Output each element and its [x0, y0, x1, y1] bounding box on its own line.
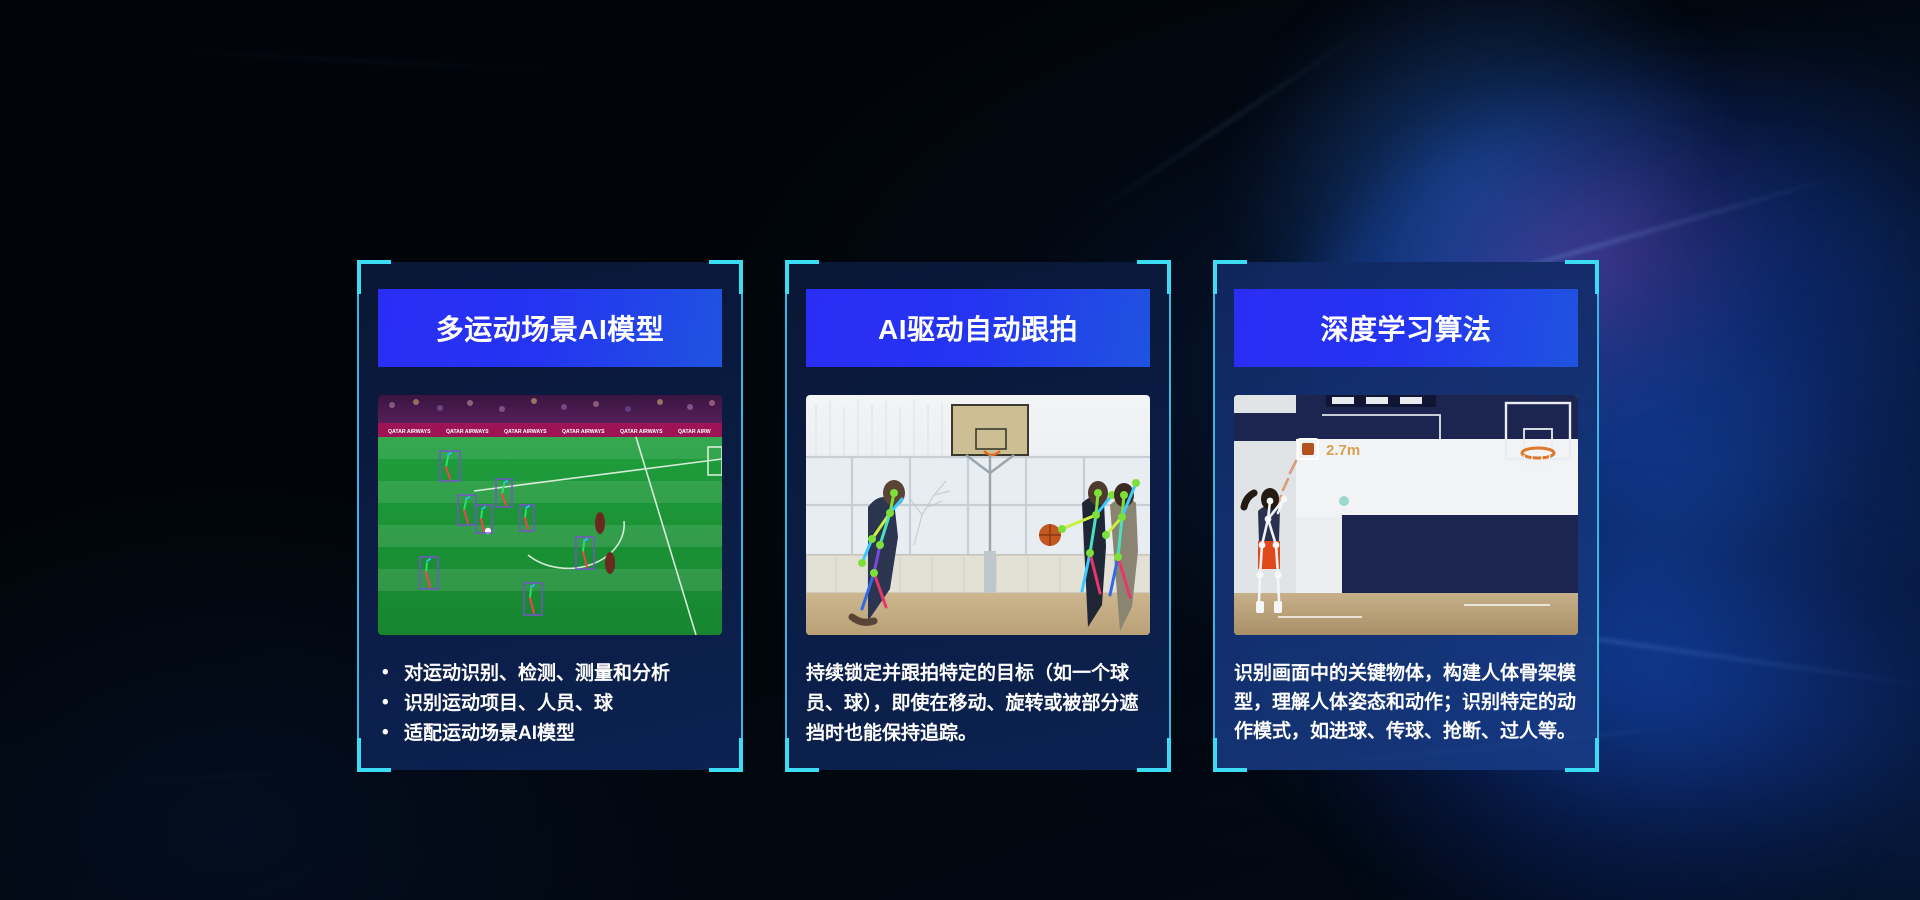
- card-title: 深度学习算法: [1320, 308, 1491, 348]
- card-title: 多运动场景AI模型: [436, 308, 665, 348]
- svg-text:2.7m: 2.7m: [1326, 442, 1360, 459]
- list-item: 对运动识别、检测、测量和分析: [378, 659, 722, 689]
- card-title-banner: 深度学习算法: [1234, 289, 1578, 367]
- card-body: 持续锁定并跟拍特定的目标（如一个球员、球），即使在移动、旋转或被部分遮挡时也能保…: [806, 659, 1150, 749]
- feature-card-multi-sport-ai-model[interactable]: 多运动场景AI模型: [357, 262, 743, 770]
- basketball-gym-skeleton-thumbnail[interactable]: [806, 395, 1150, 635]
- feature-card-row: 多运动场景AI模型: [357, 262, 1599, 770]
- light-streak-6: [40, 768, 339, 791]
- feature-description: 识别画面中的关键物体，构建人体骨架模型，理解人体姿态和动作；识别特定的动作模式，…: [1234, 659, 1578, 746]
- svg-text:QATAR AIRWAYS: QATAR AIRWAYS: [388, 429, 431, 435]
- list-item: 识别运动项目、人员、球: [378, 689, 722, 719]
- svg-text:QATAR AIRWAYS: QATAR AIRWAYS: [562, 429, 605, 435]
- svg-text:QATAR AIRWAYS: QATAR AIRWAYS: [446, 429, 489, 435]
- card-title-banner: 多运动场景AI模型: [378, 289, 722, 367]
- feature-card-ai-auto-tracking[interactable]: AI驱动自动跟拍: [785, 262, 1171, 770]
- soccer-pose-detection-thumbnail[interactable]: QATAR AIRWAYSQATAR AIRWAYS QATAR AIRWAYS…: [378, 395, 722, 635]
- card-title: AI驱动自动跟拍: [878, 308, 1078, 348]
- light-streak-5: [120, 47, 599, 74]
- card-title-banner: AI驱动自动跟拍: [806, 289, 1150, 367]
- card-body: 识别画面中的关键物体，构建人体骨架模型，理解人体姿态和动作；识别特定的动作模式，…: [1234, 659, 1578, 746]
- slide-stage: 多运动场景AI模型: [0, 0, 1920, 900]
- feature-bullet-list: 对运动识别、检测、测量和分析 识别运动项目、人员、球 适配运动场景AI模型: [378, 659, 722, 749]
- list-item: 适配运动场景AI模型: [378, 719, 722, 749]
- svg-text:QATAR AIRWAYS: QATAR AIRWAYS: [504, 429, 547, 435]
- light-streak-4: [1089, 25, 1372, 217]
- feature-description: 持续锁定并跟拍特定的目标（如一个球员、球），即使在移动、旋转或被部分遮挡时也能保…: [806, 659, 1150, 749]
- shot-trajectory-analysis-thumbnail[interactable]: 2.7m: [1234, 395, 1578, 635]
- card-body: 对运动识别、检测、测量和分析 识别运动项目、人员、球 适配运动场景AI模型: [378, 659, 722, 749]
- svg-text:QATAR AIRW: QATAR AIRW: [678, 429, 711, 435]
- svg-text:QATAR AIRWAYS: QATAR AIRWAYS: [620, 429, 663, 435]
- feature-card-deep-learning-algorithm[interactable]: 深度学习算法: [1213, 262, 1599, 770]
